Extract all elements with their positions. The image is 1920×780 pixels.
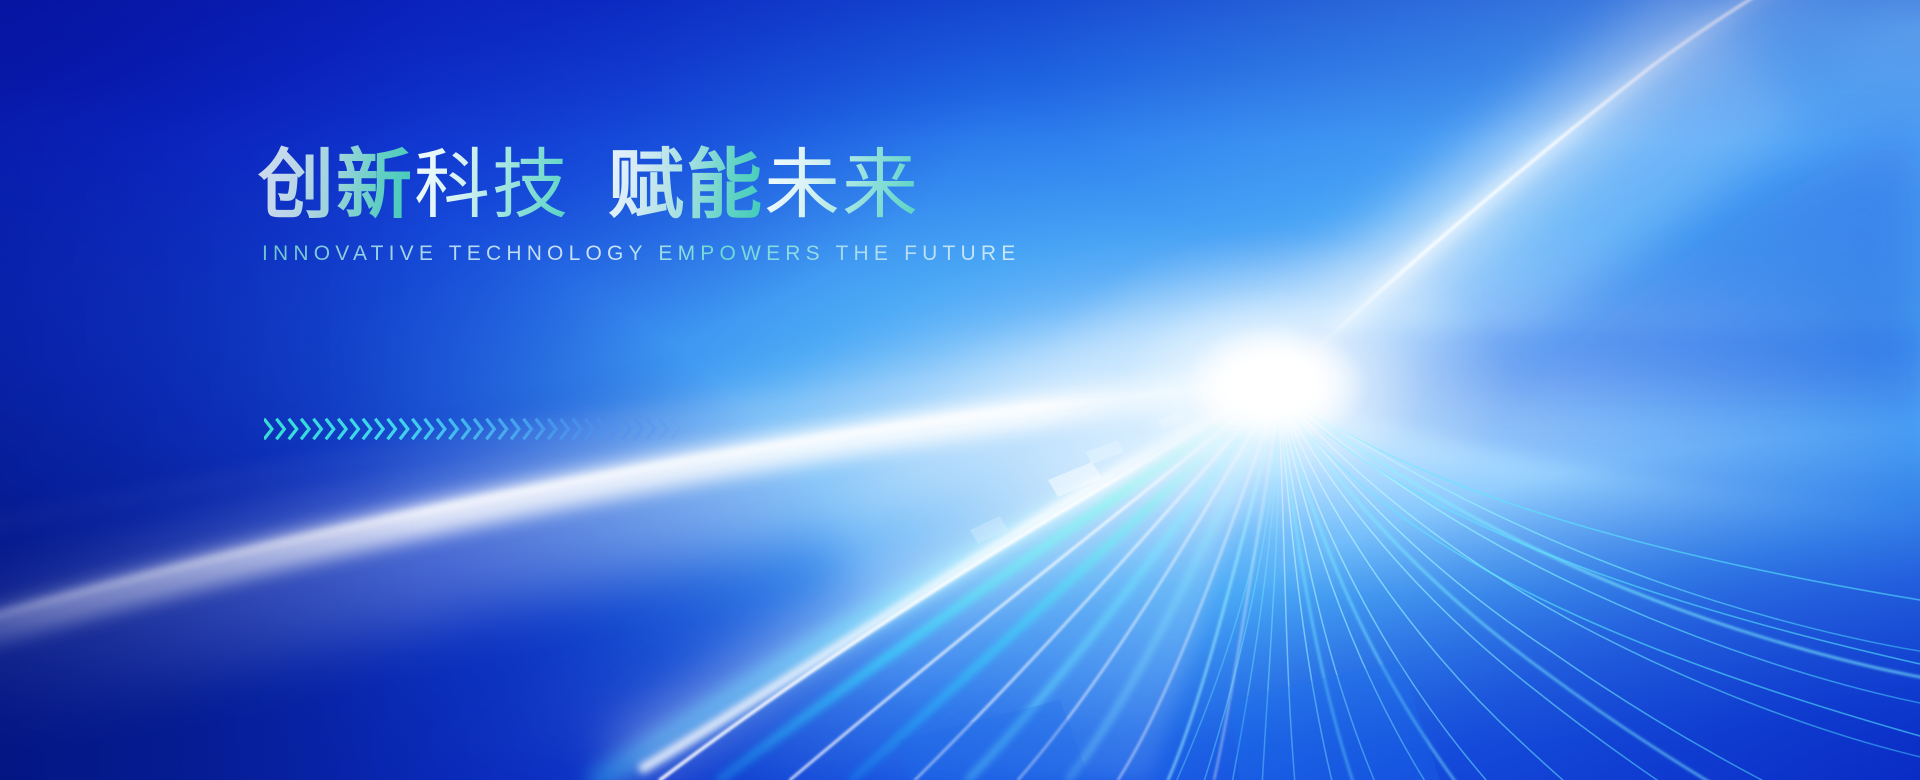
page-title: 创新科技赋能未来: [258, 148, 1078, 224]
headline-segment-2: 科技: [414, 143, 570, 228]
headline-segment-4: 未来: [764, 143, 920, 228]
headline-segment-1: 创新: [258, 143, 414, 228]
headline-block: 创新科技赋能未来 INNOVATIVE TECHNOLOGY EMPOWERS …: [258, 148, 1078, 266]
chevron-arrow-strip: [264, 414, 684, 444]
headline-segment-3: 赋能: [608, 143, 764, 228]
subtitle: INNOVATIVE TECHNOLOGY EMPOWERS THE FUTUR…: [262, 242, 1078, 266]
banner-canvas: 创新科技赋能未来 INNOVATIVE TECHNOLOGY EMPOWERS …: [0, 0, 1920, 780]
chevron-arrow-icon: [264, 414, 684, 444]
bottom-facets: [900, 660, 1440, 780]
